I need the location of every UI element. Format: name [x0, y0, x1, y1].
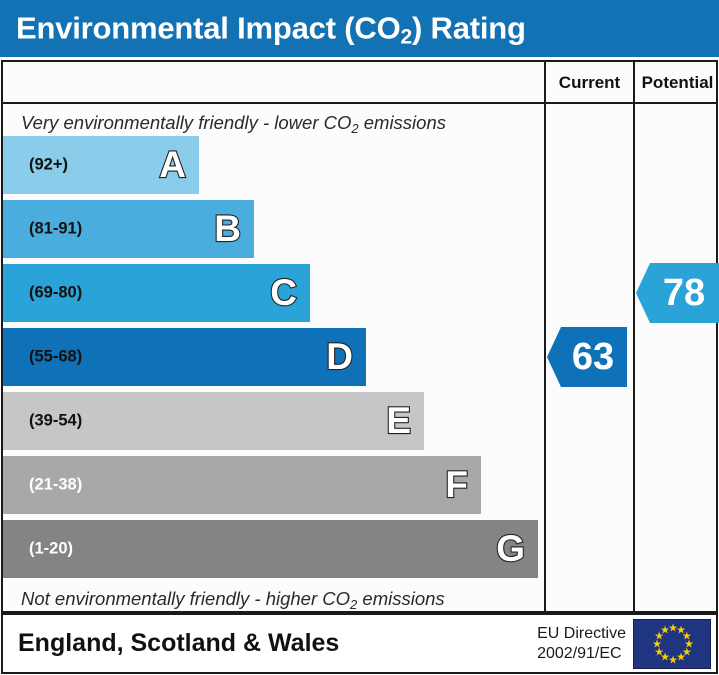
- epc-certificate-chart: Environmental Impact (CO2) Rating Curren…: [0, 0, 719, 675]
- rating-band-e: (39-54)E: [3, 392, 424, 450]
- caption-top: Very environmentally friendly - lower CO…: [21, 112, 446, 134]
- caption-bottom: Not environmentally friendly - higher CO…: [21, 588, 445, 610]
- band-range-e: (39-54): [29, 412, 82, 431]
- caption-bottom-suffix: emissions: [357, 588, 444, 609]
- rating-band-c: (69-80)C: [3, 264, 310, 322]
- band-range-b: (81-91): [29, 220, 82, 239]
- band-letter-f: F: [445, 466, 468, 503]
- band-range-c: (69-80): [29, 284, 82, 303]
- caption-bottom-subscript: 2: [350, 597, 357, 612]
- column-header-potential: Potential: [635, 70, 719, 96]
- band-letter-a: A: [159, 146, 186, 183]
- band-range-d: (55-68): [29, 348, 82, 367]
- caption-top-subscript: 2: [351, 121, 358, 136]
- rating-band-g: (1-20)G: [3, 520, 538, 578]
- eu-flag-icon: [633, 619, 711, 669]
- band-letter-d: D: [326, 338, 353, 375]
- band-range-a: (92+): [29, 156, 68, 175]
- rating-band-f: (21-38)F: [3, 456, 481, 514]
- page-title-prefix: Environmental Impact (CO: [16, 10, 401, 45]
- band-letter-g: G: [496, 530, 525, 567]
- band-letter-c: C: [270, 274, 297, 311]
- column-divider-current: [544, 62, 546, 611]
- caption-top-prefix: Very environmentally friendly - lower CO: [21, 112, 351, 133]
- rating-value-current: 63: [572, 336, 614, 379]
- header-separator: [3, 102, 716, 104]
- page-title: Environmental Impact (CO2) Rating: [16, 10, 526, 46]
- rating-arrow-potential: 78: [636, 263, 719, 323]
- chart-footer: England, Scotland & Wales EU Directive 2…: [1, 613, 718, 674]
- rating-value-potential: 78: [663, 272, 705, 315]
- footer-region-label: England, Scotland & Wales: [18, 628, 339, 657]
- page-title-subscript: 2: [401, 25, 412, 48]
- caption-bottom-prefix: Not environmentally friendly - higher CO: [21, 588, 350, 609]
- chart-title-bar: Environmental Impact (CO2) Rating: [0, 0, 719, 57]
- rating-arrow-current: 63: [547, 327, 627, 387]
- rating-band-b: (81-91)B: [3, 200, 254, 258]
- caption-top-suffix: emissions: [359, 112, 446, 133]
- band-letter-b: B: [214, 210, 241, 247]
- band-range-g: (1-20): [29, 540, 73, 559]
- band-letter-e: E: [386, 402, 411, 439]
- column-header-current: Current: [546, 70, 633, 96]
- footer-directive-line2: 2002/91/EC: [537, 644, 626, 664]
- footer-directive: EU Directive 2002/91/EC: [537, 624, 626, 664]
- column-divider-potential: [633, 62, 635, 611]
- rating-table: Current Potential Very environmentally f…: [1, 60, 718, 613]
- footer-directive-line1: EU Directive: [537, 624, 626, 644]
- rating-band-a: (92+)A: [3, 136, 199, 194]
- page-title-suffix: ) Rating: [412, 10, 526, 45]
- band-range-f: (21-38): [29, 476, 82, 495]
- rating-band-d: (55-68)D: [3, 328, 366, 386]
